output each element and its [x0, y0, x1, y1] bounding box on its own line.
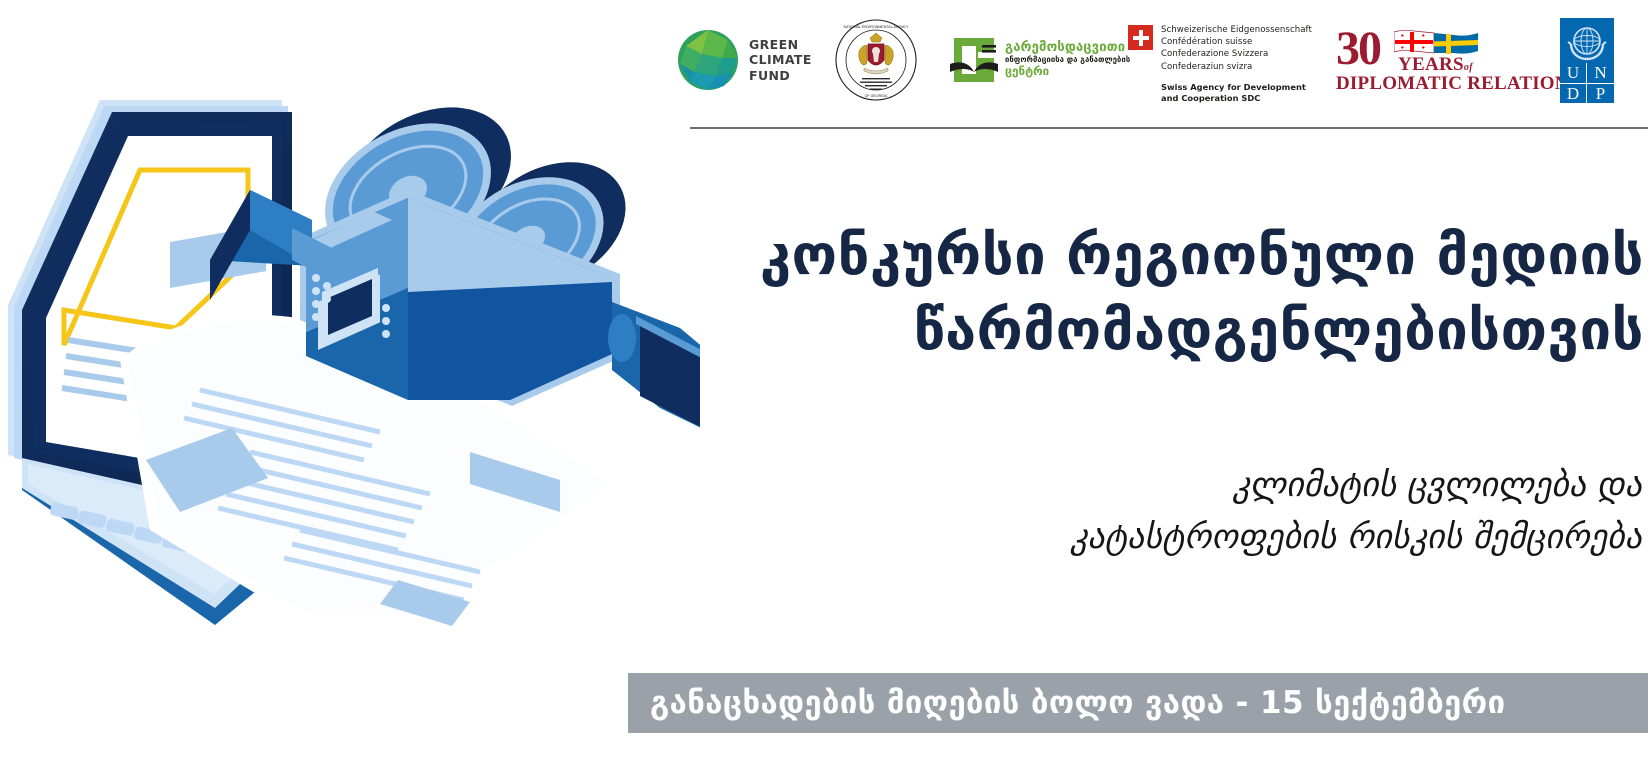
undp-letter-d: D [1560, 84, 1587, 104]
page-subtitle: კლიმატის ცვლილება და კატასტროფების რისკი… [600, 460, 1648, 563]
eiec-line-1: გარემოსდაცვითი [1005, 41, 1130, 55]
eiec-icon [948, 34, 1000, 86]
thirty-number: 30 [1336, 21, 1380, 76]
hero-illustration [0, 60, 700, 680]
logo-green-climate-fund: GREEN CLIMATE FUND [676, 10, 812, 110]
page-title: კონკურსი რეგიონული მედიის წარმომადგენლებ… [600, 218, 1648, 368]
deadline-banner: განაცხადების მიღების ბოლო ვადა - 15 სექტ… [628, 673, 1648, 733]
swiss-lang-rm: Confederaziun svizra [1161, 61, 1312, 73]
svg-text:NATIONAL ENVIRONMENTAL AGENCY: NATIONAL ENVIRONMENTAL AGENCY [843, 25, 909, 29]
undp-letter-n: N [1587, 63, 1614, 84]
diplomatic-relations-label: DIPLOMATIC RELATIONS [1336, 73, 1579, 95]
logo-environmental-info-education-center: გარემოსდაცვითი ინფორმაციისა და განათლები… [948, 10, 1130, 110]
logo-undp: U N D P [1560, 10, 1614, 110]
partner-logo-strip: GREEN CLIMATE FUND NATIONAL ENVIRONMENTA… [676, 10, 1648, 110]
swiss-lang-fr: Confédération suisse [1161, 36, 1312, 48]
illustration-svg [0, 60, 700, 680]
svg-text:OF GEORGIA: OF GEORGIA [865, 94, 888, 98]
green-climate-fund-icon [676, 28, 740, 92]
deadline-text: განაცხადების მიღების ბოლო ვადა - 15 სექტ… [628, 685, 1505, 721]
agency-seal-icon: NATIONAL ENVIRONMENTAL AGENCY OF GEORGIA [834, 18, 918, 102]
swiss-agency-line-2: and Cooperation SDC [1161, 93, 1312, 104]
years-word: YEARS [1398, 54, 1464, 75]
undp-letters: U N D P [1560, 63, 1614, 103]
page-subtitle-line-1: კლიმატის ცვლილება და [600, 460, 1642, 512]
gcf-line-1: GREEN [749, 37, 812, 52]
logo-swiss-sdc: Schweizerische Eidgenossenschaft Confédé… [1128, 10, 1312, 124]
swiss-lang-it: Confederazione Svizzera [1161, 48, 1312, 60]
of-word: of [1464, 62, 1473, 73]
page-subtitle-line-2: კატასტროფების რისკის შემცირება [600, 512, 1642, 564]
swiss-lang-de: Schweizerische Eidgenossenschaft [1161, 24, 1312, 36]
logo-national-environmental-agency: NATIONAL ENVIRONMENTAL AGENCY OF GEORGIA [834, 10, 918, 110]
gcf-line-2: CLIMATE [749, 52, 812, 67]
undp-letter-p: P [1587, 84, 1614, 104]
undp-box: U N D P [1560, 18, 1614, 103]
logo-30-years-diplomatic-relations: 30 YEARSof DIPLOMATIC RE [1336, 10, 1514, 110]
eiec-line-3: ცენტრი [1005, 65, 1130, 78]
gcf-line-3: FUND [749, 68, 812, 83]
header-divider [690, 127, 1648, 129]
swiss-agency-line-1: Swiss Agency for Development [1161, 82, 1312, 93]
georgia-sweden-flags-icon [1394, 29, 1478, 55]
eiec-wordmark: გარემოსდაცვითი ინფორმაციისა და განათლები… [1005, 41, 1130, 78]
seal-svg: NATIONAL ENVIRONMENTAL AGENCY OF GEORGIA [834, 18, 918, 102]
swiss-flag-icon [1128, 25, 1153, 50]
green-climate-fund-wordmark: GREEN CLIMATE FUND [749, 37, 812, 83]
undp-letter-u: U [1560, 63, 1587, 84]
page-title-line-2: წარმომადგენლებისთვის [600, 293, 1644, 368]
page-title-line-1: კონკურსი რეგიონული მედიის [600, 218, 1644, 293]
un-emblem-icon [1565, 22, 1609, 62]
swiss-wordmark: Schweizerische Eidgenossenschaft Confédé… [1161, 24, 1312, 105]
